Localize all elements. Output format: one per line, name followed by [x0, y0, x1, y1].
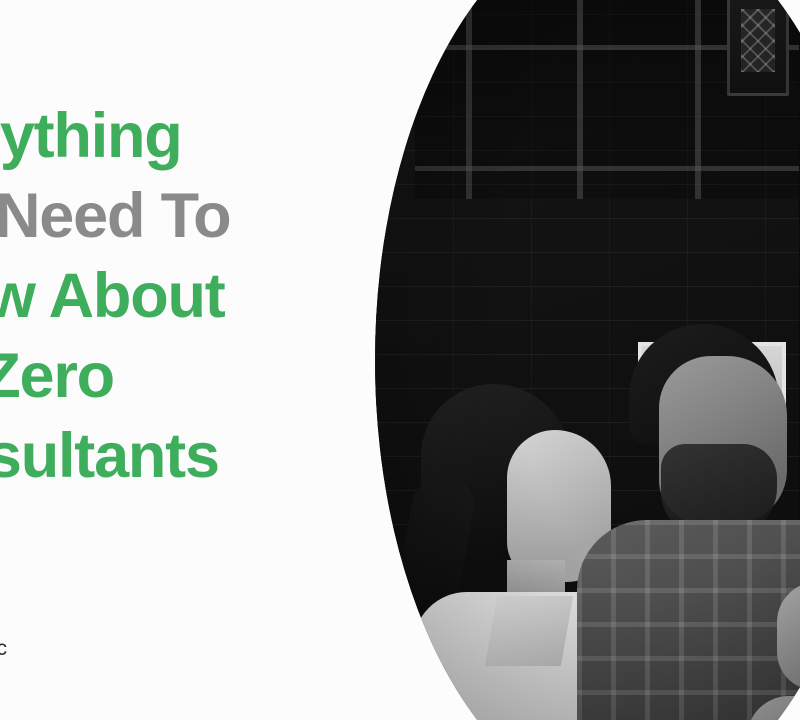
- headline-line-2: You Need To: [0, 176, 288, 256]
- headline-line-1: Everything: [0, 96, 288, 176]
- headline-line-4: Net Zero: [0, 336, 288, 416]
- brand-block: Sustainise @sustainiseinc: [0, 600, 288, 662]
- lantern-decor: [727, 0, 789, 96]
- person-man: [577, 324, 800, 720]
- page-title: Everything You Need To Know About Net Ze…: [0, 96, 288, 496]
- social-card-canvas: Everything You Need To Know About Net Ze…: [0, 0, 800, 720]
- headline-line-3: Know About: [0, 256, 288, 336]
- hero-photo-image: [375, 0, 800, 720]
- woman-collar: [485, 596, 573, 666]
- wall-shelf: [415, 0, 800, 199]
- brand-name: Sustainise: [0, 600, 288, 630]
- hero-photo: [375, 0, 800, 720]
- shelf-post-middle: [577, 0, 583, 199]
- shelf-rail-bottom: [415, 166, 800, 171]
- shelf-post-right: [695, 0, 701, 199]
- brand-handle: @sustainiseinc: [0, 636, 288, 662]
- text-column: Everything You Need To Know About Net Ze…: [0, 0, 288, 720]
- headline-line-5: Consultants: [0, 416, 288, 496]
- shelf-post-left: [466, 0, 472, 199]
- man-plaid-shirt: [577, 520, 800, 720]
